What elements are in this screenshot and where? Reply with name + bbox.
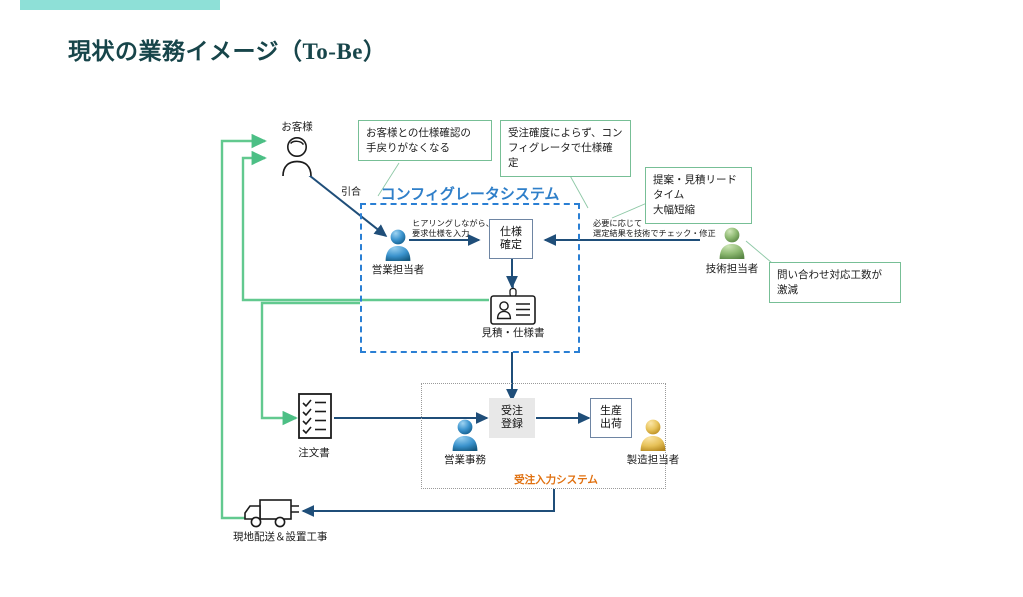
page-title: 現状の業務イメージ（To-Be） [68,32,386,66]
node-label-line-2: 確定 [500,239,522,252]
slide-canvas: 現状の業務イメージ（To-Be） [0,0,1023,597]
id-card-icon [487,284,539,326]
person-outline-icon [278,135,316,177]
flow-label-line-1: ヒアリングしながら、 [412,219,494,229]
flow-label-line-2: 選定結果を技術でチェック・修正 [593,229,716,239]
document-label-delivery: 現地配送＆設置工事 [233,531,328,544]
actor-label-production: 製造担当者 [627,454,680,467]
callout-line-1: お客様との仕様確認の [366,126,484,141]
checklist-icon [296,392,334,442]
callout-config-spec: 受注確度によらず、コン フィグレータで仕様確定 [500,120,631,177]
flow-label-engineer-check: 必要に応じて 選定結果を技術でチェック・修正 [593,219,716,240]
callout-leadtime: 提案・見積リードタイム 大幅短縮 [645,167,752,224]
node-label-line-1: 仕様 [500,226,522,239]
flow-label-line-1: 必要に応じて [593,219,716,229]
node-spec-fix: 仕様 確定 [489,219,533,259]
flow-label-inquiry: 引合 [341,187,361,200]
order-entry-system-title: 受注入力システム [514,472,598,487]
callout-line-1: 提案・見積リードタイム [653,173,744,203]
callout-line-2: 手戻りがなくなる [366,141,484,156]
node-label-line-1: 生産 [600,405,622,418]
actor-label-sales-rep: 営業担当者 [372,264,425,277]
document-label-order-form: 注文書 [298,447,330,460]
callout-line-1: 受注確度によらず、コン [508,126,623,141]
callout-inquiry-effort: 問い合わせ対応工数が 激減 [769,262,901,303]
callout-line-2: フィグレータで仕様確定 [508,141,623,171]
node-production-shipping: 生産 出荷 [590,398,632,438]
person-avatar-icon-engineer [717,226,747,260]
callout-line-1: 問い合わせ対応工数が [777,268,893,283]
callout-line-2: 激減 [777,283,893,298]
actor-label-customer: お客様 [281,121,313,134]
person-avatar-icon-sales-admin [450,418,480,452]
person-avatar-icon-sales-rep [383,228,413,262]
flow-label-line-2: 要求仕様を入力 [412,229,494,239]
configurator-system-title: コンフィグレータシステム [381,183,560,204]
callout-line-2: 大幅短縮 [653,203,744,218]
node-label-line-2: 出荷 [600,418,622,431]
node-order-registration: 受注 登録 [489,398,535,438]
actor-label-engineer: 技術担当者 [706,263,759,276]
node-label-line-2: 登録 [501,418,523,431]
truck-icon [241,496,303,530]
document-label-quote-spec: 見積・仕様書 [482,327,545,340]
callout-spec-confirm: お客様との仕様確認の 手戻りがなくなる [358,120,492,161]
actor-label-sales-admin: 営業事務 [444,454,486,467]
accent-bar [20,0,220,10]
node-label-line-1: 受注 [501,405,523,418]
person-avatar-icon-production [638,418,668,452]
flow-label-hearing-input: ヒアリングしながら、 要求仕様を入力 [412,219,494,240]
